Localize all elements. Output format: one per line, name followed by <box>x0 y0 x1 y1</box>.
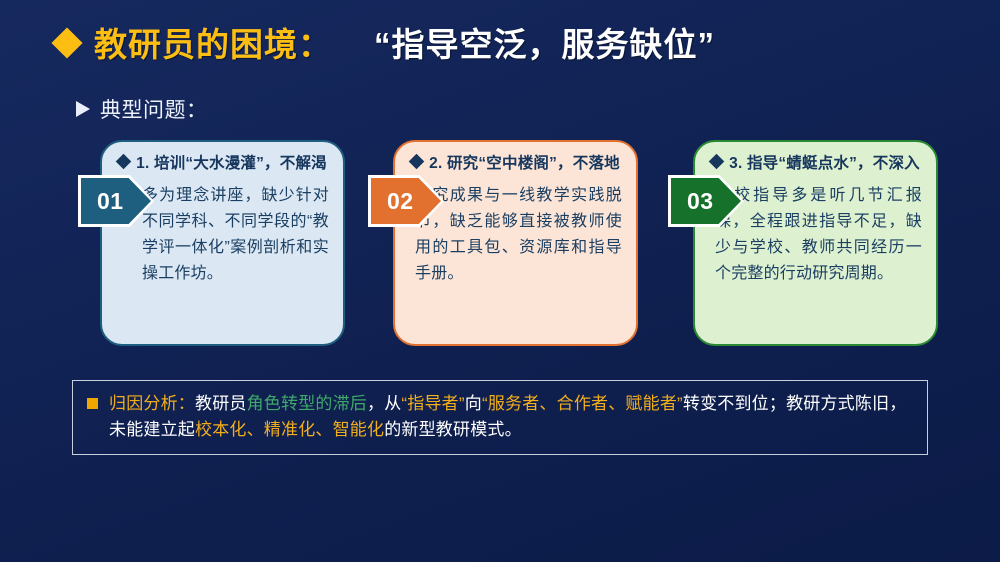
card-number-label: 03 <box>687 188 714 215</box>
attribution-segment: 教研员 <box>195 394 247 413</box>
card-heading: 2. 研究“空中楼阁”，不落地 <box>409 153 622 175</box>
attribution-segment: “服务者、合作者、赋能者” <box>482 394 683 413</box>
subheading: 典型问题： <box>76 94 208 124</box>
square-bullet-icon <box>87 398 98 409</box>
problem-card[interactable]: 3. 指导“蜻蜓点水”，不深入 下校指导多是听几节汇报课，全程跟进指导不足，缺少… <box>693 140 938 346</box>
page-title: 教研员的困境： “指导空泛，服务缺位” <box>56 18 715 66</box>
page-title-main: 教研员的困境： <box>94 18 332 66</box>
arrow-bullet-icon <box>76 101 90 117</box>
problem-card[interactable]: 2. 研究“空中楼阁”，不落地 研究成果与一线教学实践脱节，缺乏能够直接被教师使… <box>393 140 638 346</box>
attribution-text: 归因分析：教研员角色转型的滞后，从“指导者”向“服务者、合作者、赋能者”转变不到… <box>109 391 913 443</box>
attribution-box: 归因分析：教研员角色转型的滞后，从“指导者”向“服务者、合作者、赋能者”转变不到… <box>72 380 928 455</box>
page-title-quote: “指导空泛，服务缺位” <box>374 18 715 66</box>
card-heading: 3. 指导“蜻蜓点水”，不深入 <box>709 153 922 175</box>
attribution-segment: ，从 <box>367 394 401 413</box>
diamond-icon <box>51 27 82 58</box>
attribution-segment: 校本化、精准化、智能化 <box>195 420 384 439</box>
attribution-segment: “指导者” <box>401 394 464 413</box>
diamond-icon <box>409 154 425 170</box>
diamond-icon <box>116 154 132 170</box>
card-heading-text: 2. 研究“空中楼阁”，不落地 <box>429 155 620 172</box>
card-number-label: 01 <box>97 188 124 215</box>
attribution-segment: 归因分析： <box>109 394 195 413</box>
attribution-segment: 向 <box>465 394 482 413</box>
card-heading: 1. 培训“大水漫灌”，不解渴 <box>116 153 329 175</box>
card-heading-text: 1. 培训“大水漫灌”，不解渴 <box>136 155 327 172</box>
attribution-segment: 角色转型的滞后 <box>247 394 367 413</box>
card-number-label: 02 <box>387 188 414 215</box>
slide-canvas: 教研员的困境： “指导空泛，服务缺位” 典型问题： 1. 培训“大水漫灌”，不解… <box>0 0 1000 562</box>
card-heading-text: 3. 指导“蜻蜓点水”，不深入 <box>729 155 920 172</box>
diamond-icon <box>709 154 725 170</box>
subheading-label: 典型问题： <box>100 94 208 124</box>
problem-card[interactable]: 1. 培训“大水漫灌”，不解渴 多为理念讲座，缺少针对不同学科、不同学段的“教学… <box>100 140 345 346</box>
attribution-segment: 的新型教研模式。 <box>384 420 522 439</box>
